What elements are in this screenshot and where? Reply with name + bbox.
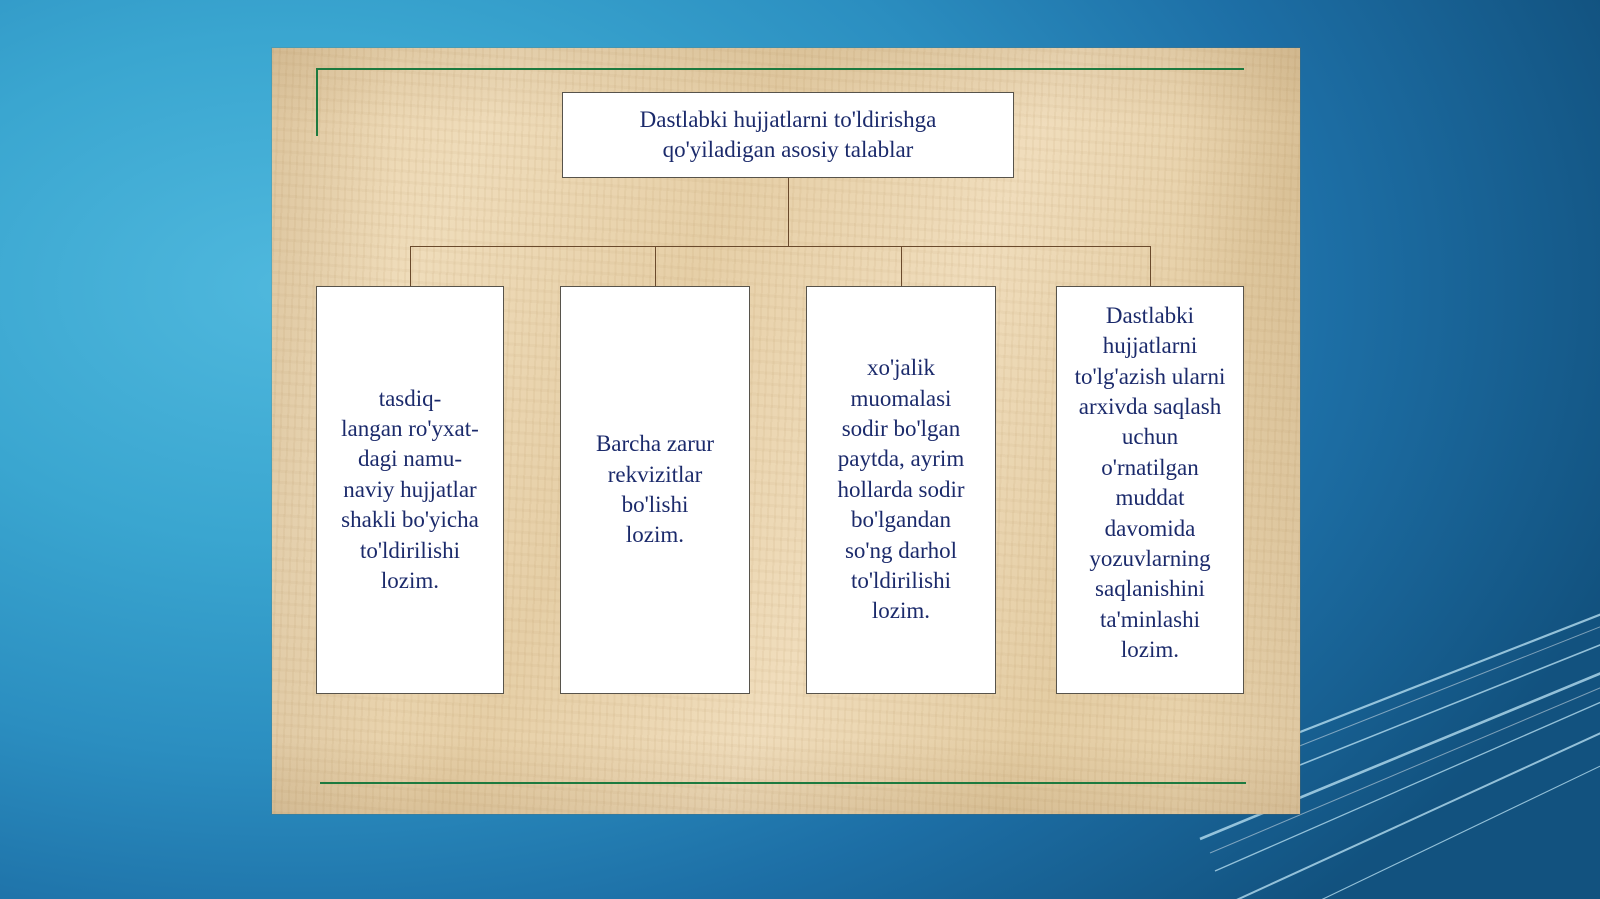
connector-branch-2 <box>655 246 656 286</box>
bottom-accent-rule <box>320 782 1246 784</box>
diagram-node-3-label: xo'jalik muomalasi sodir bo'lgan paytda,… <box>837 353 964 626</box>
parchment-panel: Dastlabki hujjatlarni to'ldirishga qo'yi… <box>272 48 1300 814</box>
connector-root-stem <box>788 178 789 246</box>
diagram-node-4-label: Dastlabki hujjatlarni to'lg'azish ularni… <box>1075 301 1226 665</box>
slide: Dastlabki hujjatlarni to'ldirishga qo'yi… <box>0 0 1600 899</box>
top-accent-rule <box>316 68 1244 70</box>
connector-branch-4 <box>1150 246 1151 286</box>
diagram-node-1[interactable]: tasdiq- langan ro'yxat- dagi namu- naviy… <box>316 286 504 694</box>
diagram-node-3[interactable]: xo'jalik muomalasi sodir bo'lgan paytda,… <box>806 286 996 694</box>
connector-branch-3 <box>901 246 902 286</box>
diagram-node-4[interactable]: Dastlabki hujjatlarni to'lg'azish ularni… <box>1056 286 1244 694</box>
connector-branch-1 <box>410 246 411 286</box>
connector-horizontal-bus <box>410 246 1150 247</box>
diagram-node-1-label: tasdiq- langan ro'yxat- dagi namu- naviy… <box>341 384 479 597</box>
left-accent-rule <box>316 68 318 136</box>
diagram-node-2-label: Barcha zarur rekvizitlar bo'lishi lozim. <box>596 429 714 550</box>
diagram-node-root[interactable]: Dastlabki hujjatlarni to'ldirishga qo'yi… <box>562 92 1014 178</box>
diagram-node-root-label: Dastlabki hujjatlarni to'ldirishga qo'yi… <box>640 105 937 166</box>
diagram-node-2[interactable]: Barcha zarur rekvizitlar bo'lishi lozim. <box>560 286 750 694</box>
